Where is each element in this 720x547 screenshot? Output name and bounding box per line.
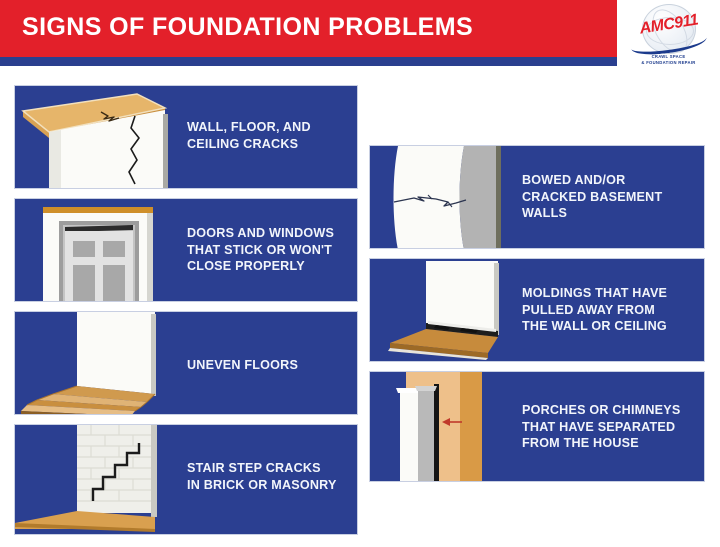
sign-card-uneven-floors[interactable]: UNEVEN FLOORS	[14, 311, 358, 415]
sign-caption: PORCHES OR CHIMNEYS THAT HAVE SEPARATED …	[522, 402, 680, 452]
sign-card-doors-and-windows[interactable]: DOORS AND WINDOWS THAT STICK OR WON'T CL…	[14, 198, 358, 302]
sign-caption: UNEVEN FLOORS	[187, 357, 298, 374]
sign-card-porches-or-chimneys[interactable]: PORCHES OR CHIMNEYS THAT HAVE SEPARATED …	[369, 371, 705, 482]
company-logo[interactable]: AMC911 CRAWL SPACE & FOUNDATION REPAIR	[617, 0, 720, 67]
sign-caption: BOWED AND/OR CRACKED BASEMENT WALLS	[522, 172, 662, 222]
sign-caption: STAIR STEP CRACKS IN BRICK OR MASONRY	[187, 460, 337, 493]
header-accent-rule	[0, 57, 617, 66]
header-banner: SIGNS OF FOUNDATION PROBLEMS	[0, 0, 720, 57]
sign-card-wall-floor-ceiling-cracks[interactable]: WALL, FLOOR, AND CEILING CRACKS	[14, 85, 358, 189]
separated-molding-illustration	[370, 259, 512, 361]
sign-card-moldings-pulled-away[interactable]: MOLDINGS THAT HAVE PULLED AWAY FROM THE …	[369, 258, 705, 362]
sign-card-bowed-basement-walls[interactable]: BOWED AND/OR CRACKED BASEMENT WALLS	[369, 145, 705, 249]
sticking-door-illustration	[15, 199, 175, 301]
warped-wood-floor-illustration	[15, 312, 175, 414]
cracked-ceiling-and-wall-illustration	[15, 86, 175, 188]
sign-caption: MOLDINGS THAT HAVE PULLED AWAY FROM THE …	[522, 285, 667, 335]
page-title: SIGNS OF FOUNDATION PROBLEMS	[22, 13, 473, 42]
logo-tagline-line2: & FOUNDATION REPAIR	[617, 60, 720, 66]
brick-wall-stairstep-crack-illustration	[15, 425, 177, 534]
bowed-cracked-basement-wall-illustration	[370, 146, 512, 248]
sign-caption: WALL, FLOOR, AND CEILING CRACKS	[187, 119, 311, 152]
sign-card-stair-step-cracks[interactable]: STAIR STEP CRACKS IN BRICK OR MASONRY	[14, 424, 358, 535]
sign-caption: DOORS AND WINDOWS THAT STICK OR WON'T CL…	[187, 225, 334, 275]
logo-tagline: CRAWL SPACE & FOUNDATION REPAIR	[617, 54, 720, 66]
separated-porch-column-illustration	[370, 372, 512, 481]
